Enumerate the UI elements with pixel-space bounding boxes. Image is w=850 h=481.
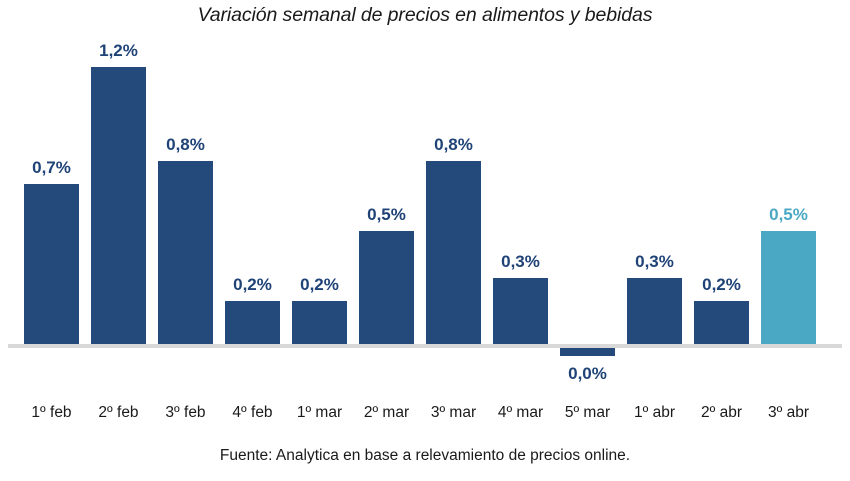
bar[interactable] [560, 348, 615, 356]
bar-slot: 0,2% [688, 36, 755, 348]
bar[interactable] [91, 67, 146, 348]
bar[interactable] [426, 161, 481, 348]
category-label: 3º abr [755, 404, 822, 422]
bar[interactable] [24, 184, 79, 348]
bar-value-label: 0,8% [146, 135, 225, 155]
bar-slot: 0,3% [621, 36, 688, 348]
category-label: 2º abr [688, 404, 755, 422]
chart-title: Variación semanal de precios en alimento… [0, 4, 850, 27]
category-label: 3º feb [152, 404, 219, 422]
bar-slot: 0,2% [219, 36, 286, 348]
category-label: 1º feb [18, 404, 85, 422]
bar-slot: 0,5% [353, 36, 420, 348]
bar-value-label: 0,5% [749, 205, 828, 225]
bar[interactable] [761, 231, 816, 348]
category-label: 4º mar [487, 404, 554, 422]
category-label: 1º mar [286, 404, 353, 422]
source-note: Fuente: Analytica en base a relevamiento… [0, 447, 850, 465]
bar-slot: 0,2% [286, 36, 353, 348]
bar[interactable] [225, 301, 280, 348]
bar[interactable] [493, 278, 548, 348]
bar-value-label: 1,2% [79, 41, 158, 61]
category-label: 2º mar [353, 404, 420, 422]
bar-slot: 0,5% [755, 36, 822, 348]
bar-value-label: 0,3% [481, 252, 560, 272]
bar-slot: 0,8% [420, 36, 487, 348]
bar-slot: 1,2% [85, 36, 152, 348]
bar-value-label: 0,7% [12, 158, 91, 178]
chart-container: Variación semanal de precios en alimento… [0, 0, 850, 481]
category-axis-labels: 1º feb2º feb3º feb4º feb1º mar2º mar3º m… [8, 404, 842, 428]
bar-value-label: 0,2% [682, 275, 761, 295]
category-label: 3º mar [420, 404, 487, 422]
bar-value-label: 0,0% [548, 364, 627, 384]
bar[interactable] [158, 161, 213, 348]
bar-slot: 0,8% [152, 36, 219, 348]
category-label: 1º abr [621, 404, 688, 422]
bar-slot: 0,7% [18, 36, 85, 348]
bar-value-label: 0,8% [414, 135, 493, 155]
bar[interactable] [359, 231, 414, 348]
bar-value-label: 0,2% [280, 275, 359, 295]
bar-value-label: 0,3% [615, 252, 694, 272]
category-label: 4º feb [219, 404, 286, 422]
bar-slot: 0,3% [487, 36, 554, 348]
bar[interactable] [627, 278, 682, 348]
bar-value-label: 0,5% [347, 205, 426, 225]
bar-slot: 0,0% [554, 36, 621, 348]
category-label: 2º feb [85, 404, 152, 422]
plot-area: 0,7%1,2%0,8%0,2%0,2%0,5%0,8%0,3%0,0%0,3%… [8, 36, 842, 348]
category-label: 5º mar [554, 404, 621, 422]
x-axis-line [8, 344, 842, 348]
bar[interactable] [694, 301, 749, 348]
bar[interactable] [292, 301, 347, 348]
bars-layer: 0,7%1,2%0,8%0,2%0,2%0,5%0,8%0,3%0,0%0,3%… [8, 36, 842, 348]
